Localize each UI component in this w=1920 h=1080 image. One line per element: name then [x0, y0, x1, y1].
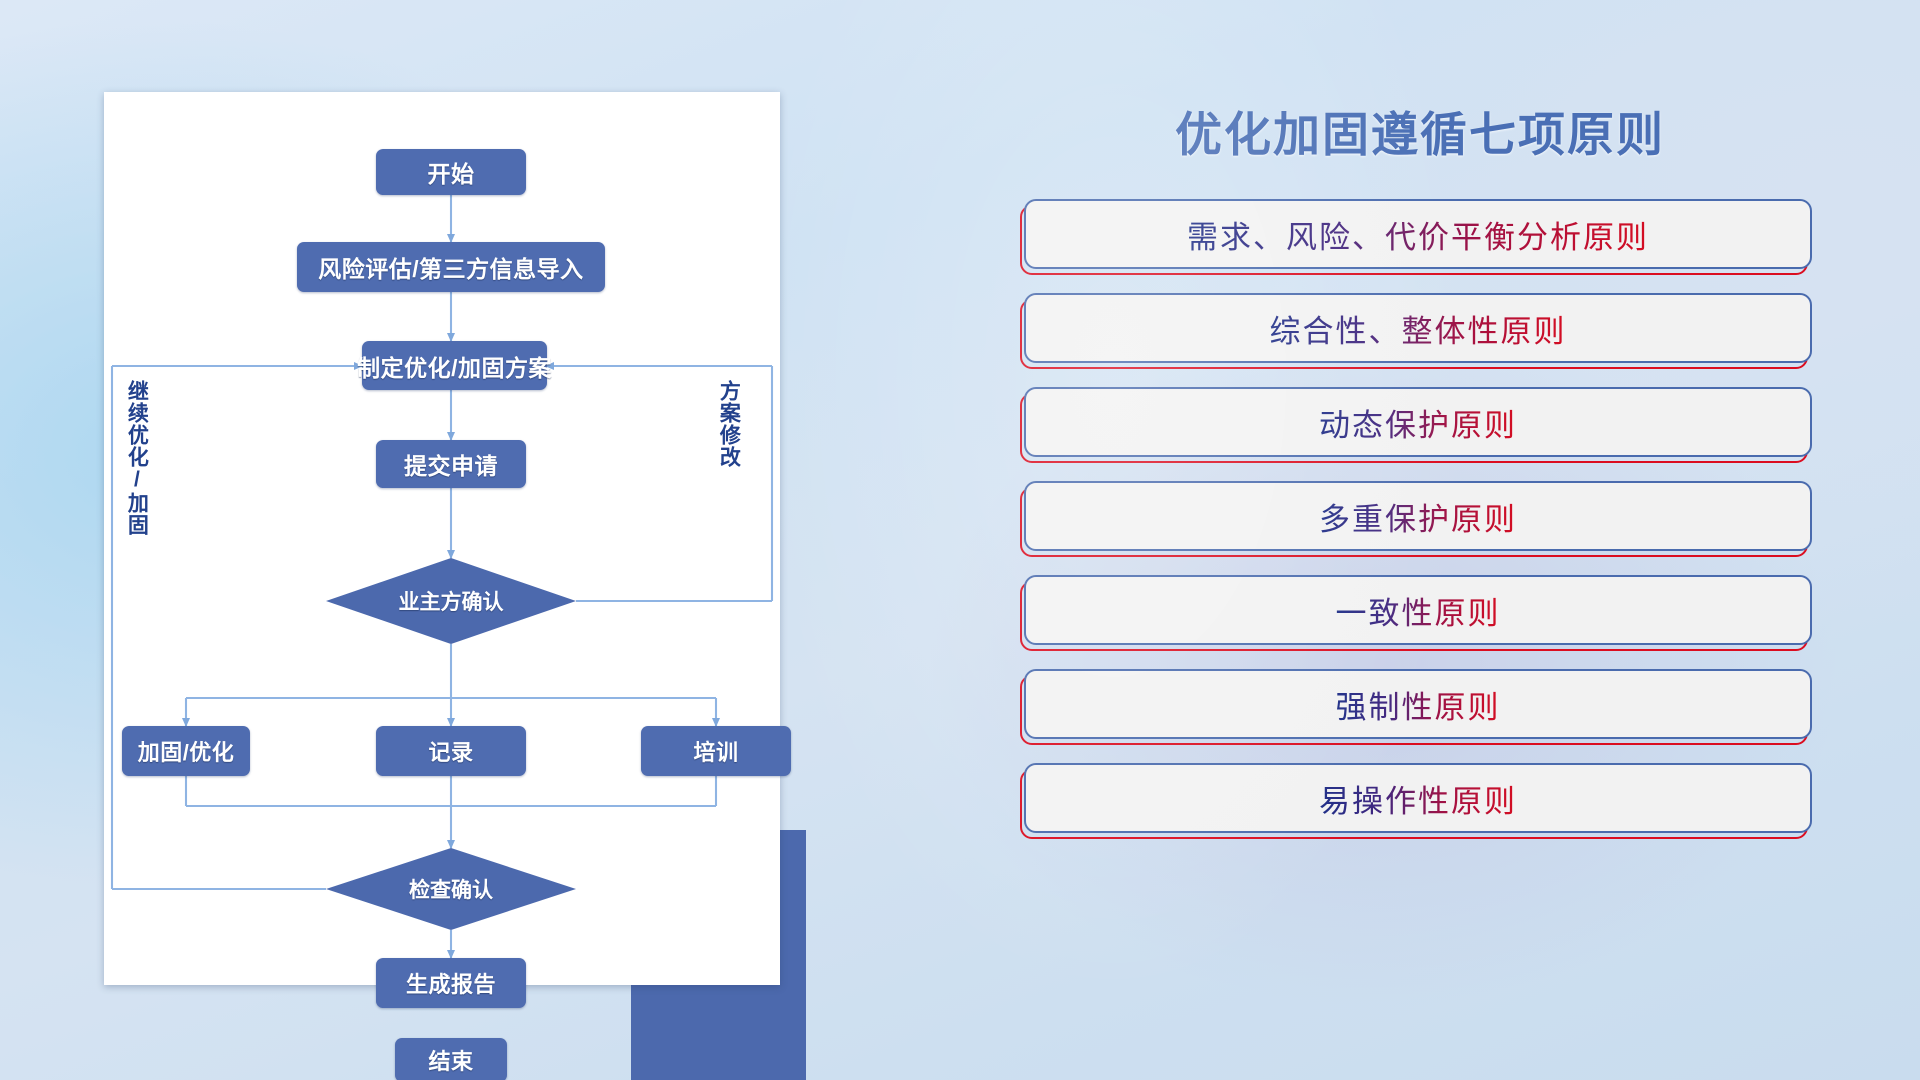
principle-label: 一致性原则	[1336, 588, 1501, 633]
principle-card[interactable]: 多重保护原则	[1020, 481, 1810, 553]
flow-node-label: 记录	[428, 735, 473, 767]
principle-card[interactable]: 易操作性原则	[1020, 763, 1810, 835]
flow-edge-label-continue-optimize: 继续优化/加固	[126, 380, 147, 536]
flow-node-start[interactable]: 开始	[376, 149, 526, 195]
flow-node-submit-application[interactable]: 提交申请	[376, 440, 526, 488]
card-face: 一致性原则	[1024, 575, 1812, 645]
flow-node-training[interactable]: 培训	[641, 726, 791, 776]
card-face: 动态保护原则	[1024, 387, 1812, 457]
principles-region: 优化加固遵循七项原则 需求、风险、代价平衡分析原则 综合性、整体性原则 动态保护…	[1020, 96, 1820, 1016]
flow-node-label: 加固/优化	[138, 735, 235, 767]
principle-card[interactable]: 综合性、整体性原则	[1020, 293, 1810, 365]
principle-label: 易操作性原则	[1319, 776, 1517, 821]
principle-label: 强制性原则	[1336, 682, 1501, 727]
flow-edge-label-plan-revision: 方案修改	[718, 380, 739, 468]
flow-decision-label: 检查确认	[409, 874, 493, 904]
principle-label: 综合性、整体性原则	[1270, 306, 1567, 351]
principle-label: 需求、风险、代价平衡分析原则	[1187, 212, 1649, 257]
flow-decision-owner-confirm[interactable]: 业主方确认	[326, 558, 576, 644]
flow-node-generate-report[interactable]: 生成报告	[376, 958, 526, 1008]
flowchart-panel: 开始 风险评估/第三方信息导入 制定优化/加固方案 提交申请 业主方确认 加固/…	[104, 92, 780, 985]
card-face: 需求、风险、代价平衡分析原则	[1024, 199, 1812, 269]
flow-node-label: 生成报告	[406, 967, 496, 999]
flow-node-label: 风险评估/第三方信息导入	[318, 250, 583, 284]
flow-decision-check-confirm[interactable]: 检查确认	[326, 848, 576, 930]
flow-node-end[interactable]: 结束	[395, 1038, 507, 1080]
principle-card[interactable]: 动态保护原则	[1020, 387, 1810, 459]
card-face: 多重保护原则	[1024, 481, 1812, 551]
flow-node-make-plan[interactable]: 制定优化/加固方案	[362, 341, 547, 390]
card-face: 强制性原则	[1024, 669, 1812, 739]
principles-card-list: 需求、风险、代价平衡分析原则 综合性、整体性原则 动态保护原则 多重保护原则	[1020, 199, 1820, 835]
principle-card[interactable]: 需求、风险、代价平衡分析原则	[1020, 199, 1810, 271]
flow-node-reinforce-optimize[interactable]: 加固/优化	[122, 726, 250, 776]
flow-node-risk-assessment[interactable]: 风险评估/第三方信息导入	[297, 242, 605, 292]
principle-label: 多重保护原则	[1319, 494, 1517, 539]
flow-node-label: 培训	[693, 735, 738, 767]
flow-node-label: 结束	[428, 1044, 473, 1076]
card-face: 综合性、整体性原则	[1024, 293, 1812, 363]
card-face: 易操作性原则	[1024, 763, 1812, 833]
flow-node-label: 提交申请	[404, 447, 498, 481]
flow-node-record[interactable]: 记录	[376, 726, 526, 776]
flow-node-label: 制定优化/加固方案	[357, 349, 552, 383]
flow-node-label: 开始	[428, 155, 475, 189]
flow-decision-label: 业主方确认	[399, 586, 504, 616]
principles-title: 优化加固遵循七项原则	[1020, 96, 1820, 165]
principle-card[interactable]: 强制性原则	[1020, 669, 1810, 741]
principle-card[interactable]: 一致性原则	[1020, 575, 1810, 647]
principle-label: 动态保护原则	[1319, 400, 1517, 445]
flowchart-region: 开始 风险评估/第三方信息导入 制定优化/加固方案 提交申请 业主方确认 加固/…	[104, 92, 784, 992]
slide-canvas: 开始 风险评估/第三方信息导入 制定优化/加固方案 提交申请 业主方确认 加固/…	[0, 0, 1920, 1080]
